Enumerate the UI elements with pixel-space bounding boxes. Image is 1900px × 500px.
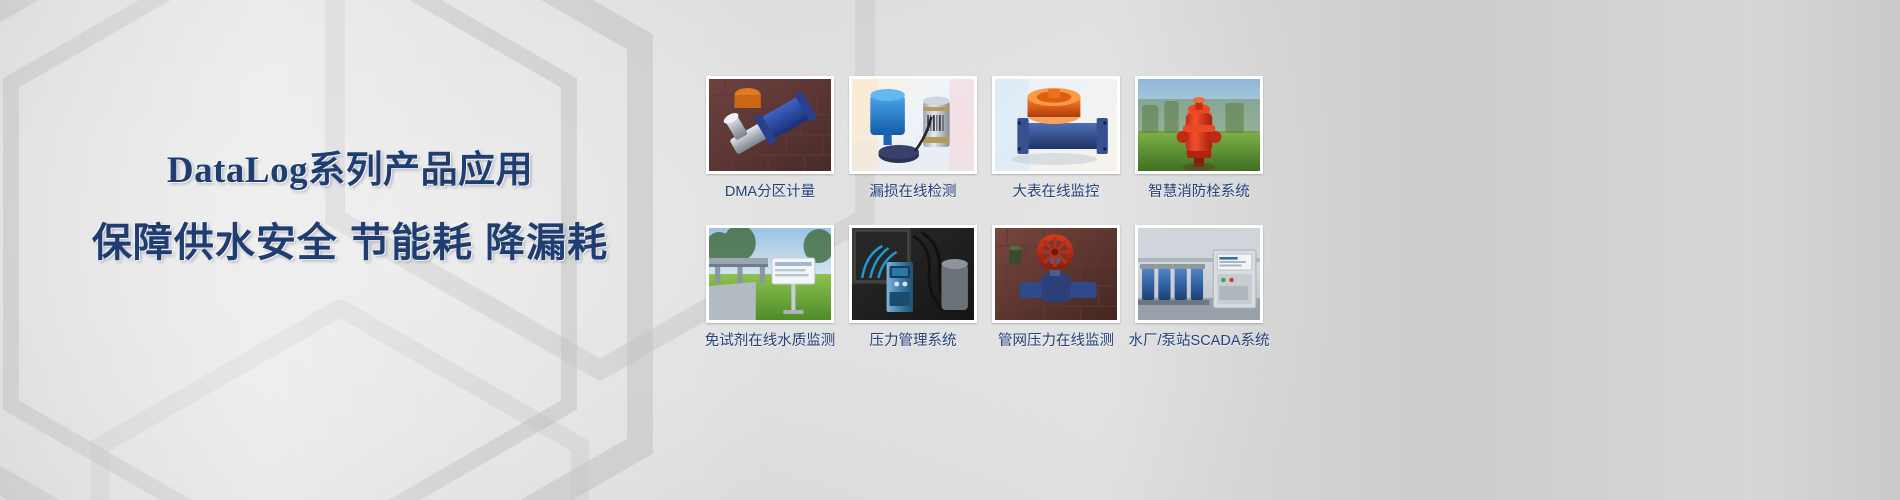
product-application-banner: DataLog系列产品应用 保障供水安全 节能耗 降漏耗 — [0, 0, 1900, 500]
leak-detection-logger-photo — [852, 79, 974, 171]
product-thumbnail[interactable] — [992, 225, 1120, 323]
product-card-pipe-pressure[interactable]: 管网压力在线监测 — [992, 225, 1120, 350]
product-caption: 压力管理系统 — [870, 334, 957, 350]
product-caption: 大表在线监控 — [1013, 185, 1100, 201]
reagent-free-water-quality-station-photo — [709, 228, 831, 320]
product-caption: 智慧消防栓系统 — [1148, 185, 1250, 201]
product-caption: DMA分区计量 — [725, 185, 815, 201]
product-thumbnail[interactable] — [1135, 76, 1263, 174]
product-thumbnail[interactable] — [849, 76, 977, 174]
product-row: 免试剂在线水质监测 — [706, 225, 1263, 350]
product-application-grid: DMA分区计量 — [706, 76, 1263, 350]
headline-block: DataLog系列产品应用 保障供水安全 节能耗 降漏耗 — [0, 152, 700, 263]
hexagon-watermark-tertiary-icon — [60, 300, 620, 500]
product-thumbnail[interactable] — [706, 76, 834, 174]
product-thumbnail[interactable] — [992, 76, 1120, 174]
product-thumbnail[interactable] — [849, 225, 977, 323]
product-thumbnail[interactable] — [1135, 225, 1263, 323]
pressure-management-cabinet-photo — [852, 228, 974, 320]
product-caption: 免试剂在线水质监测 — [705, 334, 836, 350]
product-caption: 水厂/泵站SCADA系统 — [1129, 334, 1270, 350]
smart-fire-hydrant-photo — [1138, 79, 1260, 171]
headline-line-1: DataLog系列产品应用 — [0, 152, 700, 189]
product-card-leak-detection[interactable]: 漏损在线检测 — [849, 76, 977, 201]
product-card-pressure-management[interactable]: 压力管理系统 — [849, 225, 977, 350]
pipe-network-pressure-valve-photo — [995, 228, 1117, 320]
large-water-meter-photo — [995, 79, 1117, 171]
product-card-smart-hydrant[interactable]: 智慧消防栓系统 — [1135, 76, 1263, 201]
waterworks-pump-station-scada-photo — [1138, 228, 1260, 320]
product-caption: 漏损在线检测 — [870, 185, 957, 201]
product-card-scada[interactable]: 水厂/泵站SCADA系统 — [1135, 225, 1263, 350]
product-thumbnail[interactable] — [706, 225, 834, 323]
product-card-dma-metering[interactable]: DMA分区计量 — [706, 76, 834, 201]
product-caption: 管网压力在线监测 — [998, 334, 1114, 350]
product-card-water-quality[interactable]: 免试剂在线水质监测 — [706, 225, 834, 350]
dma-flow-meter-valve-photo — [709, 79, 831, 171]
product-row: DMA分区计量 — [706, 76, 1263, 201]
headline-line-2: 保障供水安全 节能耗 降漏耗 — [0, 223, 700, 263]
product-card-large-meter-monitoring[interactable]: 大表在线监控 — [992, 76, 1120, 201]
